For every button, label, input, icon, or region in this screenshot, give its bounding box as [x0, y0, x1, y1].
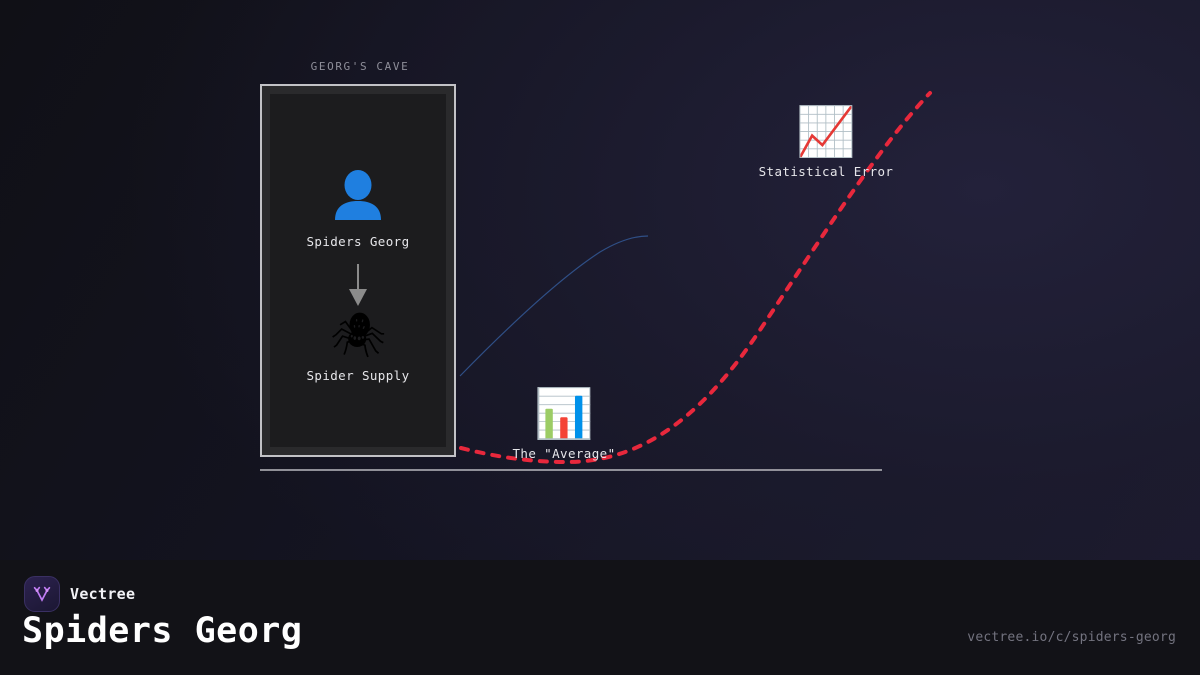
brand-name: Vectree — [70, 585, 135, 603]
brand-row[interactable]: Vectree — [24, 576, 135, 612]
cave-container[interactable]: Spiders Georg 🕷 Spider Supply — [260, 84, 456, 457]
blue-curve — [460, 236, 648, 376]
node-label: Spider Supply — [262, 368, 454, 383]
footer-url: vectree.io/c/spiders-georg — [967, 630, 1176, 645]
diagram-canvas[interactable]: GEORG'S CAVE Spiders Georg — [0, 0, 1200, 560]
cave-title: GEORG'S CAVE — [260, 60, 460, 73]
vectree-logo-icon — [24, 576, 60, 612]
node-spiders-georg[interactable]: Spiders Georg — [262, 170, 454, 249]
page-title: Spiders Georg — [22, 612, 302, 651]
person-icon — [262, 170, 454, 220]
node-spider-supply[interactable]: 🕷 Spider Supply — [262, 314, 454, 383]
node-label: Statistical Error — [706, 164, 946, 179]
diagram-vector-layer — [0, 0, 1200, 560]
arrow-down-icon — [347, 264, 369, 312]
screenshot-root: GEORG'S CAVE Spiders Georg — [0, 0, 1200, 675]
spider-emoji-icon: 🕷 — [262, 314, 454, 358]
georgs-cave-group[interactable]: GEORG'S CAVE Spiders Georg — [260, 60, 460, 457]
node-label: The "Average" — [464, 446, 664, 461]
footer-bar: Vectree Spiders Georg vectree.io/c/spide… — [0, 560, 1200, 675]
node-the-average[interactable]: 📊 The "Average" — [464, 390, 664, 461]
bar-chart-emoji-icon: 📊 — [464, 390, 664, 438]
node-label: Spiders Georg — [262, 234, 454, 249]
node-statistical-error[interactable]: 📈 Statistical Error — [706, 108, 946, 179]
chart-increasing-emoji-icon: 📈 — [706, 108, 946, 156]
